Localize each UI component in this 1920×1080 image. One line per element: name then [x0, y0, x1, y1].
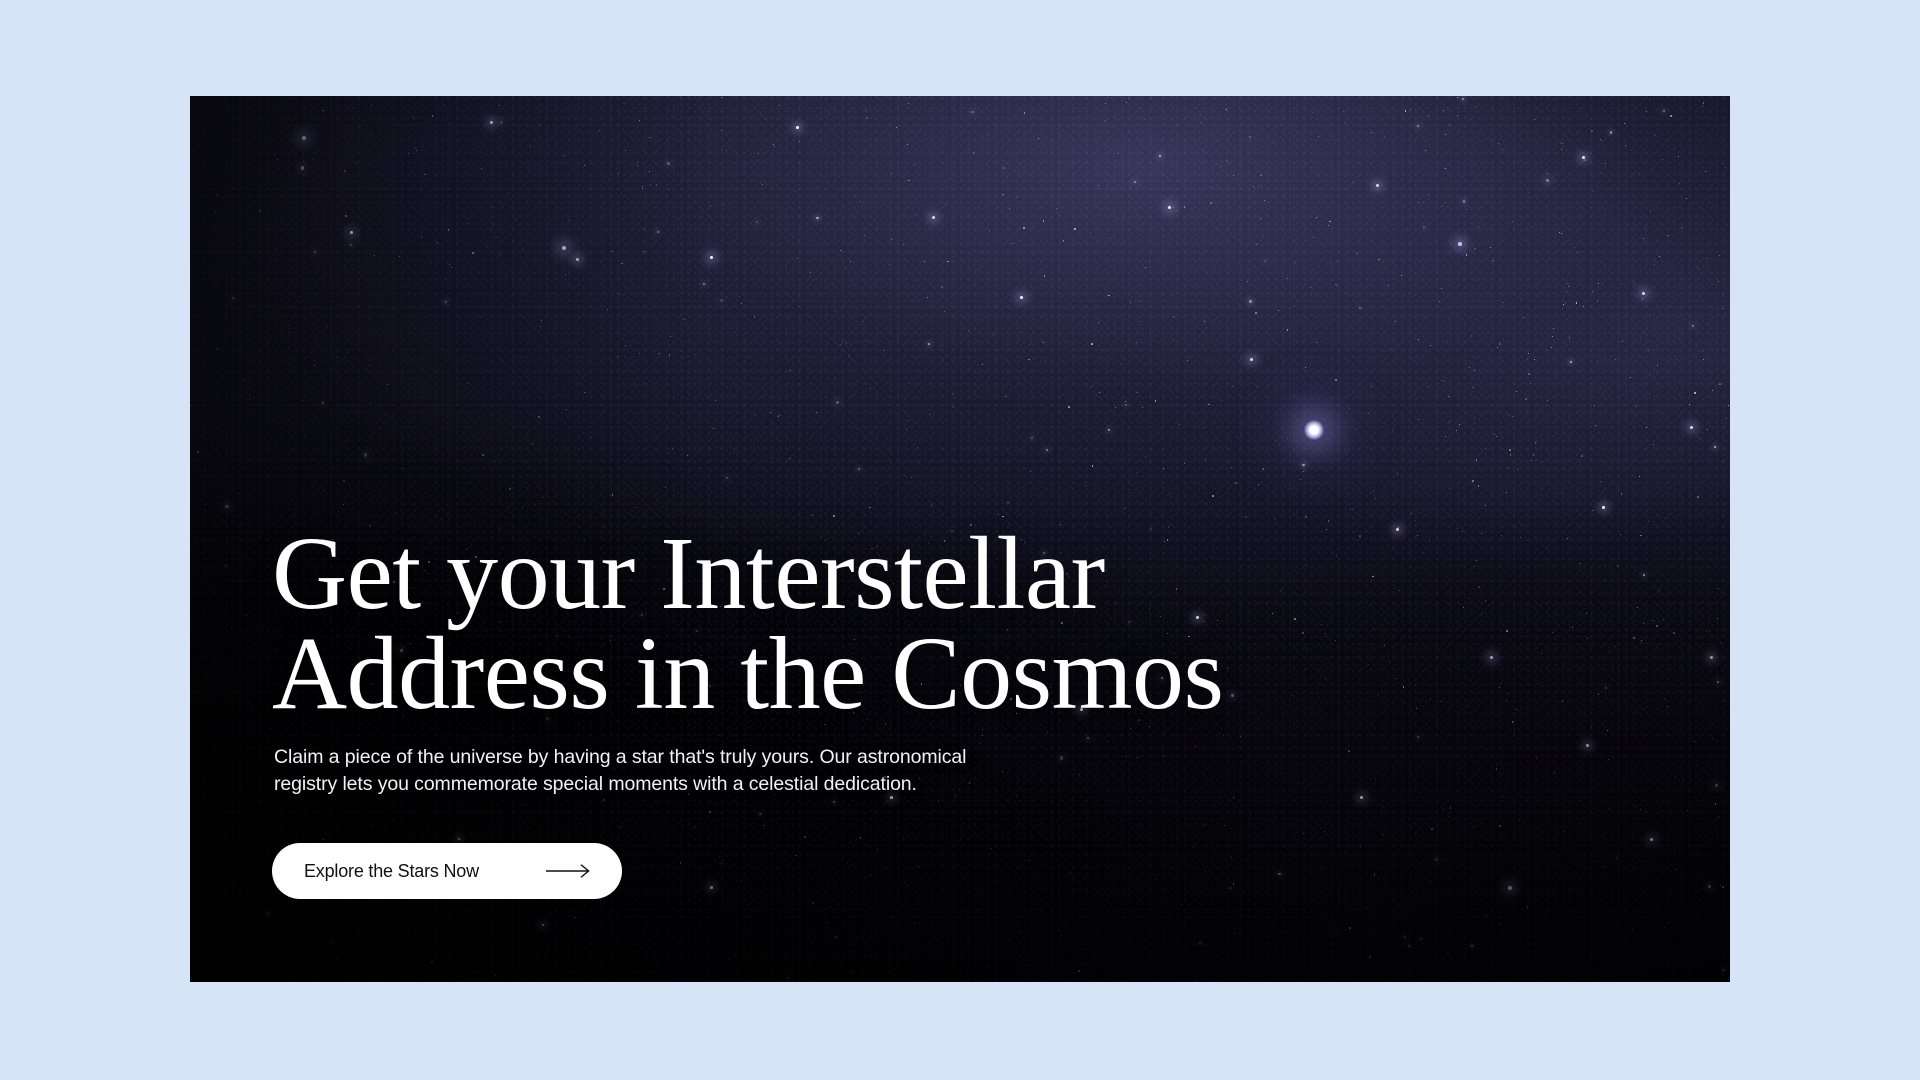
arrow-right-icon: [546, 863, 592, 879]
subcopy-line-2: registry lets you commemorate special mo…: [274, 771, 1044, 798]
page-title: Get your Interstellar Address in the Cos…: [272, 524, 1232, 724]
subcopy-line-1: Claim a piece of the universe by having …: [274, 744, 1044, 771]
headline-line-1: Get your Interstellar: [272, 524, 1232, 624]
bright-star: [1303, 419, 1325, 441]
page-canvas: Get your Interstellar Address in the Cos…: [0, 0, 1920, 1080]
hero-content: Get your Interstellar Address in the Cos…: [272, 96, 1272, 982]
hero-subcopy: Claim a piece of the universe by having …: [274, 744, 1044, 798]
headline-line-2: Address in the Cosmos: [272, 624, 1232, 724]
cta-label: Explore the Stars Now: [304, 861, 479, 882]
explore-the-stars-button[interactable]: Explore the Stars Now: [272, 843, 622, 899]
hero-section: Get your Interstellar Address in the Cos…: [190, 96, 1730, 982]
